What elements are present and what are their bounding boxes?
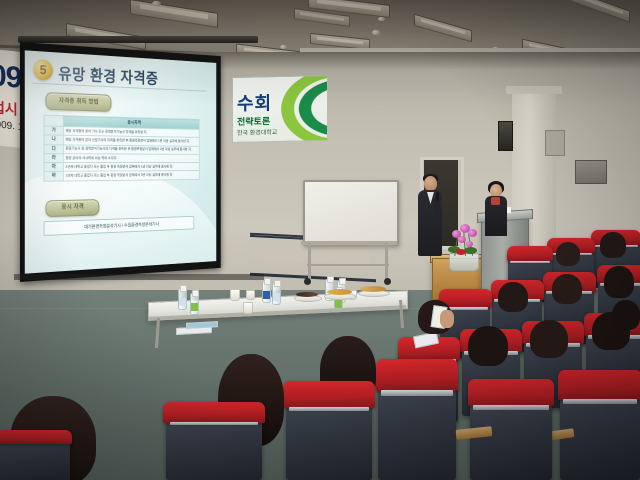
person-hair (552, 274, 582, 304)
paper-cup (246, 290, 255, 300)
seat (166, 410, 262, 480)
audience-member (498, 282, 528, 312)
whiteboard-leg (385, 243, 388, 279)
whiteboard-tray (301, 241, 397, 245)
person-hair (556, 242, 580, 266)
row-key: 나 (44, 135, 63, 144)
seat-headrest (283, 381, 374, 407)
slide-top-button: 자격증 취득 방법 (45, 92, 111, 112)
paper-cup (230, 289, 240, 301)
water-bottle (272, 283, 281, 305)
seat (286, 392, 372, 480)
audience-member (612, 300, 640, 330)
water-bottle (262, 281, 271, 303)
orchid-bloom (458, 236, 466, 243)
whiteboard (303, 180, 399, 246)
row-text: 환경 분야의 석사학위 이상 학위 소지자 (63, 153, 199, 162)
ceiling-light-fixture (570, 0, 630, 23)
audience-member (600, 232, 626, 258)
person-hair (600, 232, 626, 258)
screen-base-shadow (14, 274, 264, 280)
bottle-label (191, 303, 198, 311)
seat-headrest (558, 370, 640, 399)
seat-chrome-trim (289, 407, 368, 411)
food-item (296, 292, 318, 297)
seat-headrest (468, 379, 555, 406)
slide-table: 응시자격 가 해당 자격증의 분야 기사 또는 정책분석기능사 자격을 취득한 … (44, 115, 200, 182)
audience-member (556, 242, 580, 266)
person-hand (440, 310, 454, 328)
whiteboard-wheel (384, 278, 391, 285)
seat-chrome-trim (563, 399, 637, 404)
row-key: 바 (44, 172, 63, 181)
bottle-label (273, 293, 280, 301)
person-hair (498, 282, 528, 312)
orchid-bloom (468, 229, 477, 237)
projected-slide: 5 유망 환경 자격증 자격증 취득 방법 응시자격 가 해당 자격증의 분야 … (25, 50, 216, 273)
water-bottle (190, 293, 199, 315)
bottle-label (263, 291, 270, 299)
seat-headrest (376, 359, 459, 391)
wall-panel (545, 130, 565, 156)
row-key: 라 (44, 153, 63, 162)
table-header-key (44, 115, 63, 126)
microphone (436, 192, 439, 201)
ceiling-speaker-icon (372, 30, 380, 35)
seat (378, 372, 456, 480)
seat-chrome-trim (473, 405, 548, 410)
presenter-head (424, 176, 437, 191)
orchid-leaf (464, 247, 477, 254)
ceiling-light-fixture (414, 14, 472, 43)
ceiling-speaker-icon (152, 1, 161, 6)
audience-member (530, 320, 568, 358)
banner-line3: 한국 환경대학교 (237, 127, 277, 137)
water-bottle (178, 288, 187, 310)
seat-headrest (163, 402, 265, 423)
person-hair (604, 266, 634, 298)
table-row: 라 환경 분야의 석사학위 이상 학위 소지자 (44, 153, 199, 162)
whiteboard-crossbar (307, 264, 389, 266)
flower-accent (456, 249, 466, 255)
food-item (360, 286, 386, 292)
person-hair (612, 300, 640, 330)
row-key: 다 (44, 144, 63, 153)
ceiling-sprinkler-icon (280, 45, 287, 49)
event-banner: 수회 전략토론 한국 환경대학교 (232, 75, 328, 143)
whiteboard-leg (308, 243, 311, 279)
table-row: 바 2년제 대학교 졸업자 또는 졸업 후 환경 측정분석 업체에서 3년 이상… (44, 171, 199, 181)
seat-chrome-trim (381, 390, 453, 395)
slide-badge: 5 (33, 59, 53, 81)
row-text: 2년제 대학교 졸업자 또는 졸업 후 환경 측정분석 업체에서 3년 이상 실… (63, 171, 199, 181)
wall-speaker-icon (575, 160, 607, 184)
ceiling-sprinkler-icon (378, 17, 385, 21)
person-hair (468, 326, 508, 366)
audience-member (468, 326, 508, 366)
seat (0, 436, 70, 480)
ceiling-light-fixture (130, 0, 218, 28)
seat-chrome-trim (170, 422, 258, 426)
row-key: 가 (44, 126, 63, 135)
audience-member (604, 266, 634, 298)
audience-member (552, 274, 582, 304)
paper-cup (243, 302, 253, 314)
seat-headrest (507, 246, 554, 261)
projection-screen: 5 유망 환경 자격증 자격증 취득 방법 응시자격 가 해당 자격증의 분야 … (20, 42, 221, 282)
food-item (327, 289, 352, 295)
poster-red-text: 업시 (0, 97, 18, 120)
poster-number: 09 (0, 59, 21, 96)
bottle-label (335, 300, 342, 308)
column-cap (506, 86, 562, 94)
photo-scene: 09 업시 2009. 11. 수회 전략토론 한국 환경대학교 5 유망 환경… (0, 0, 640, 480)
seat-chrome-trim (510, 261, 550, 264)
host-scarf (491, 197, 500, 205)
wall-speaker-icon (498, 121, 513, 151)
banner-swoosh-icon (281, 75, 328, 143)
person-hair (530, 320, 568, 358)
screen-roller (18, 36, 258, 43)
whiteboard-wheel (304, 278, 311, 285)
slide-bottom-button: 응시 자격 (45, 199, 99, 217)
seat-headrest (0, 430, 72, 444)
bottle-label (179, 298, 186, 306)
banner-line1: 수회 (237, 89, 272, 116)
row-key: 마 (44, 162, 63, 171)
